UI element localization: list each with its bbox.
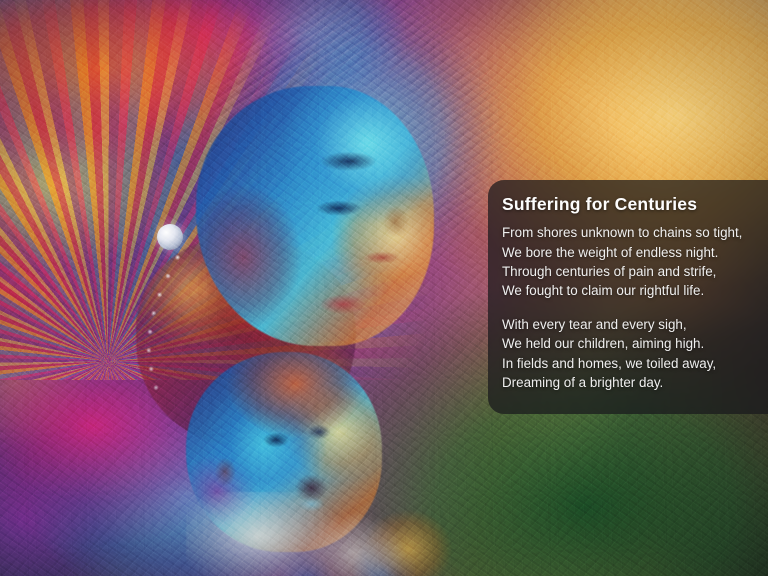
poem-line: We held our children, aiming high. [502, 334, 768, 353]
poem-line: We bore the weight of endless night. [502, 243, 768, 262]
poem-stanza-2: With every tear and every sigh, We held … [502, 315, 768, 393]
baby-garment [186, 492, 486, 576]
woman-neck-and-shoulder [136, 236, 356, 446]
poem-overlay-panel: Suffering for Centuries From shores unkn… [488, 180, 768, 414]
artwork-stage: Suffering for Centuries From shores unkn… [0, 0, 768, 576]
poem-title: Suffering for Centuries [502, 195, 768, 214]
poem-line: With every tear and every sigh, [502, 315, 768, 334]
baby-face-features [186, 352, 382, 552]
baby-face [186, 352, 382, 552]
woman-face [196, 86, 434, 346]
poem-line: In fields and homes, we toiled away, [502, 354, 768, 373]
poem-line: From shores unknown to chains so tight, [502, 223, 768, 242]
pearl-earring [157, 224, 183, 250]
woman-face-features [196, 86, 434, 346]
poem-stanza-1: From shores unknown to chains so tight, … [502, 223, 768, 301]
headwrap-radiating-strokes [0, 0, 500, 380]
poem-line: Through centuries of pain and strife, [502, 262, 768, 281]
pearl-necklace [120, 250, 240, 436]
poem-line: Dreaming of a brighter day. [502, 373, 768, 392]
poem-line: We fought to claim our rightful life. [502, 281, 768, 300]
